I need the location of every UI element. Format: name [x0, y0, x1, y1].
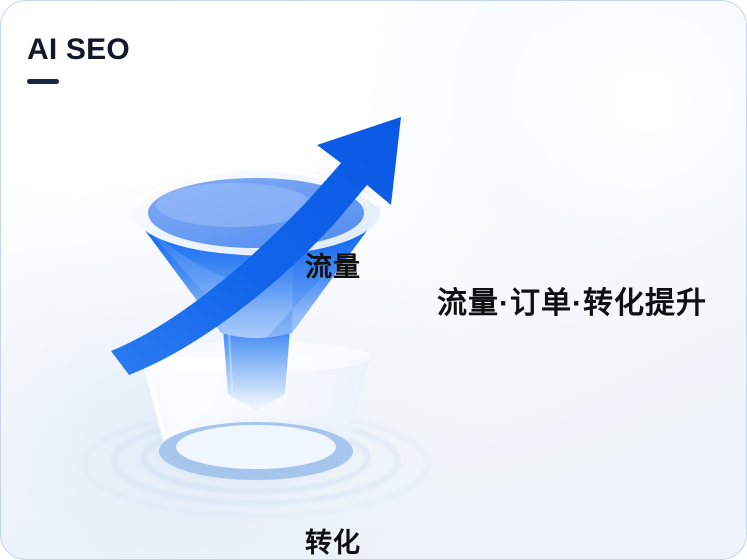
slide-canvas: AI SEO 流量·订单·转化提升	[0, 0, 747, 560]
funnel-illustration: 流量 转化	[79, 89, 449, 529]
funnel-label-conversion: 转化	[305, 521, 361, 560]
funnel-label-traffic: 流量	[305, 245, 361, 284]
tagline-text: 流量·订单·转化提升	[437, 278, 707, 322]
title-underline-accent	[27, 79, 59, 84]
title-block: AI SEO	[27, 35, 130, 84]
page-title: AI SEO	[27, 35, 130, 65]
container-base-ring	[159, 422, 353, 480]
